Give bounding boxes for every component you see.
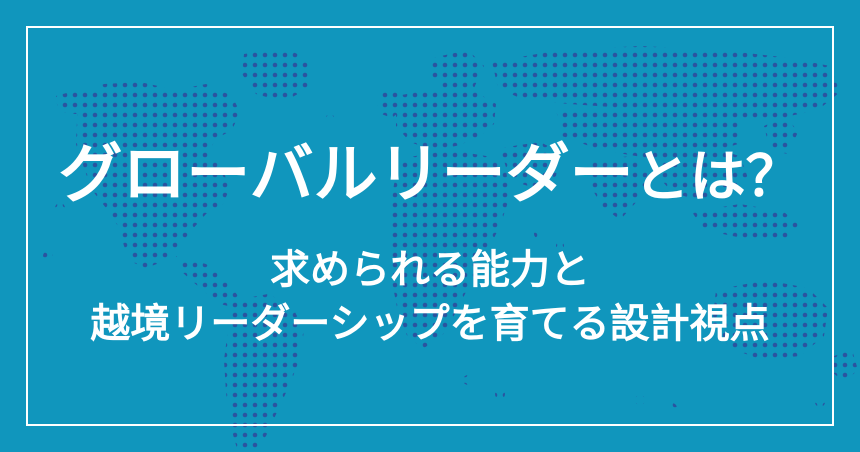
banner-subtitle-line-2: 越境リーダーシップを育てる設計視点 (90, 298, 769, 352)
banner-subtitle-line-1: 求められる能力と (90, 244, 769, 298)
title-banner: グローバルリーダーとは？ 求められる能力と 越境リーダーシップを育てる設計視点 (0, 0, 860, 452)
banner-title-tail: とは？ (634, 145, 802, 208)
banner-content: グローバルリーダーとは？ 求められる能力と 越境リーダーシップを育てる設計視点 (0, 0, 860, 452)
banner-subtitle: 求められる能力と 越境リーダーシップを育てる設計視点 (90, 244, 769, 351)
banner-title-main: グローバルリーダー (58, 138, 633, 210)
banner-title: グローバルリーダーとは？ (58, 142, 801, 206)
